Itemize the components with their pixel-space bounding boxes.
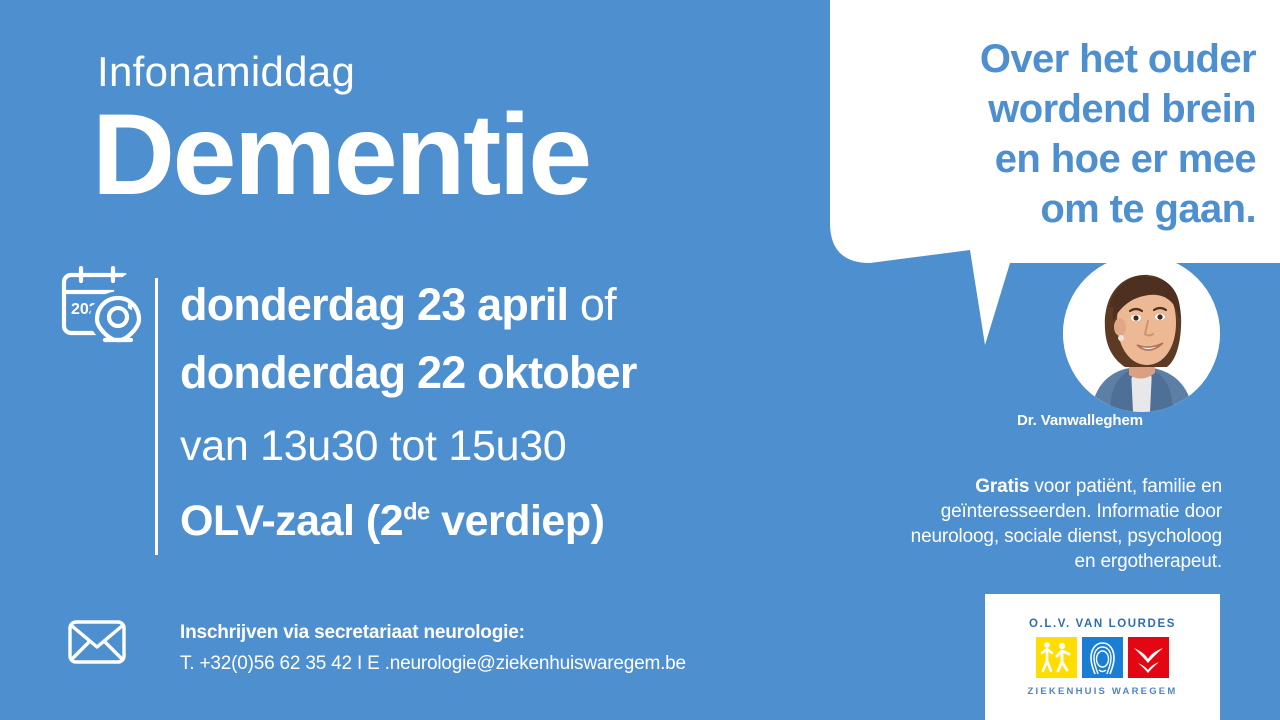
logo-squares <box>1036 637 1169 678</box>
vertical-divider <box>155 278 158 555</box>
event-room-superscript: de <box>403 500 430 526</box>
logo-top-text: O.L.V. VAN LOURDES <box>1029 618 1176 630</box>
event-room: OLV-zaal (2de verdiep) <box>180 484 830 558</box>
doctor-name: Dr. Vanwalleghem <box>940 412 1220 429</box>
bubble-line-3: en hoe er mee <box>854 134 1256 184</box>
description-text: Gratis voor patiënt, familie en geïntere… <box>900 474 1222 574</box>
contact-details[interactable]: T. +32(0)56 62 35 42 I E .neurologie@zie… <box>180 649 686 679</box>
event-info-block: donderdag 23 april of donderdag 22 oktob… <box>180 272 830 558</box>
event-date-1: donderdag 23 april of <box>180 272 830 338</box>
logo-square-yellow <box>1036 637 1077 678</box>
description-rest: voor patiënt, familie en geïnteresseerde… <box>911 476 1222 572</box>
event-time: van 13u30 tot 15u30 <box>180 408 830 484</box>
doctor-photo <box>1063 255 1220 412</box>
logo-bottom-text: ZIEKENHUIS WAREGEM <box>1028 686 1178 697</box>
event-date-2: donderdag 22 oktober <box>180 338 830 408</box>
envelope-icon <box>68 620 126 669</box>
speech-bubble: Over het ouder wordend brein en hoe er m… <box>830 0 1280 350</box>
logo-square-blue <box>1082 637 1123 678</box>
contact-block: Inschrijven via secretariaat neurologie:… <box>180 617 686 679</box>
speech-bubble-text: Over het ouder wordend brein en hoe er m… <box>854 34 1256 234</box>
event-date-1-bold: donderdag 23 april <box>180 279 568 330</box>
description-bold-lead: Gratis <box>975 476 1029 497</box>
page-title: Dementie <box>92 98 590 213</box>
hospital-logo: O.L.V. VAN LOURDES <box>985 594 1220 720</box>
contact-title: Inschrijven via secretariaat neurologie: <box>180 617 686 649</box>
calendar-location-icon: 2026 <box>58 266 146 349</box>
bubble-line-2: wordend brein <box>854 84 1256 134</box>
event-room-suffix: verdiep) <box>430 497 605 545</box>
bubble-line-1: Over het ouder <box>854 34 1256 84</box>
logo-square-red <box>1128 637 1169 678</box>
bubble-line-4: om te gaan. <box>854 184 1256 234</box>
event-date-1-suffix: of <box>568 279 616 330</box>
poster-canvas: Over het ouder wordend brein en hoe er m… <box>0 0 1280 720</box>
event-room-prefix: OLV-zaal (2 <box>180 497 403 545</box>
kicker-text: Infonamiddag <box>97 48 355 96</box>
portrait-illustration <box>1063 255 1220 412</box>
